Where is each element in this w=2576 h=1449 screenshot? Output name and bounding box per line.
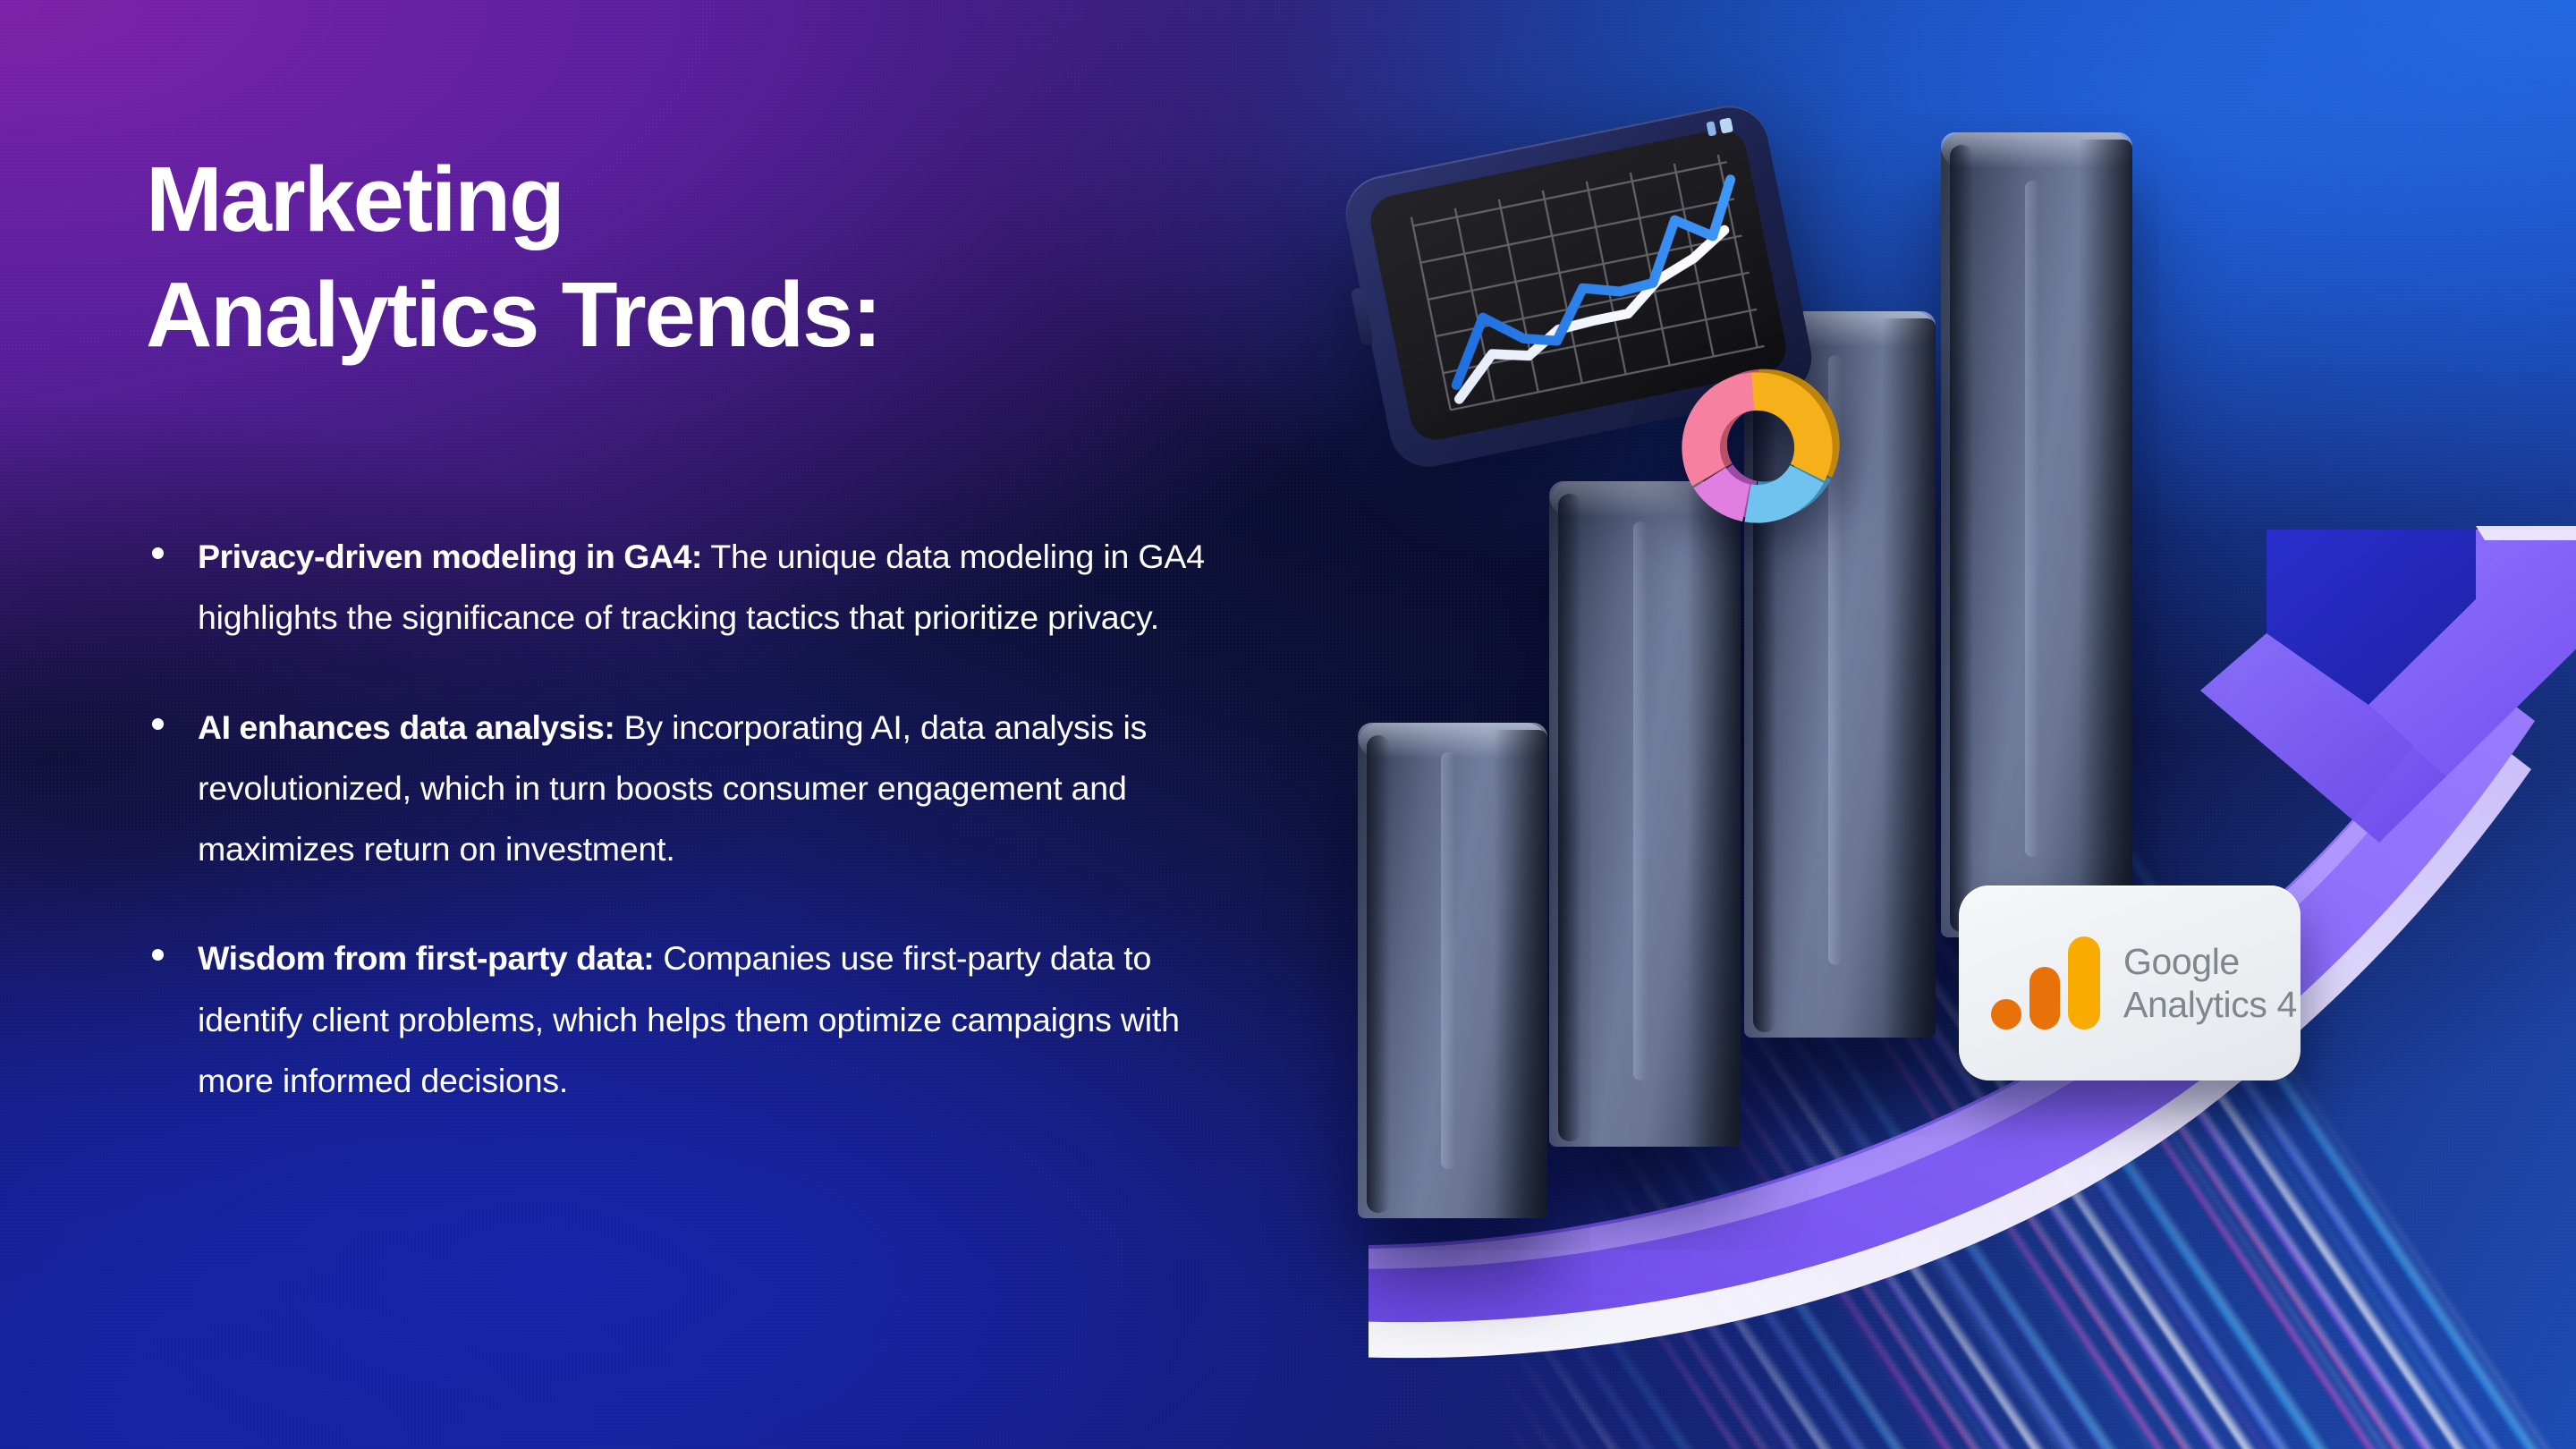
bar-left-shade	[1367, 735, 1390, 1213]
bar-left-shade	[1950, 145, 1973, 932]
bullet-lead: Privacy-driven modeling in GA4:	[198, 538, 702, 575]
bullet-text: AI enhances data analysis: By incorporat…	[198, 697, 1264, 880]
bullet-lead: Wisdom from first-party data:	[198, 939, 654, 977]
bar-specular	[2025, 181, 2039, 857]
google-analytics-logo-icon	[1991, 936, 2100, 1030]
page-title: Marketing Analytics Trends:	[146, 152, 1362, 361]
indicator-dot-1	[1706, 121, 1716, 136]
bar-specular	[1633, 521, 1648, 1080]
page-title-line-1: Marketing	[146, 152, 1362, 246]
ga4-wordmark: Google Analytics 4	[2123, 940, 2297, 1027]
bullet-dot-icon	[152, 547, 164, 559]
bullet-lead: AI enhances data analysis:	[198, 708, 614, 746]
ga-bar-tall	[2068, 936, 2100, 1030]
bar-2	[1549, 481, 1741, 1147]
hero-illustration: Google Analytics 4	[1368, 179, 2576, 1449]
bullet-text: Privacy-driven modeling in GA4: The uniq…	[198, 526, 1264, 648]
bar-right-shade	[1687, 488, 1741, 1147]
list-item: Wisdom from first-party data: Companies …	[146, 928, 1264, 1111]
ga-bar-mid	[2029, 967, 2060, 1030]
poster-canvas: Marketing Analytics Trends: Privacy-driv…	[0, 0, 2576, 1449]
bar-right-shade	[2079, 140, 2132, 937]
bullet-dot-icon	[152, 949, 164, 961]
bullet-list: Privacy-driven modeling in GA4: The uniq…	[146, 526, 1264, 1111]
bar-left-shade	[1558, 494, 1581, 1141]
bar-1	[1358, 723, 1547, 1218]
bar-right-shade	[1494, 730, 1547, 1218]
ga4-brand-line-1: Google	[2123, 940, 2297, 983]
donut-chart	[1674, 365, 1840, 530]
page-title-line-2: Analytics Trends:	[146, 267, 1362, 361]
bar-right-shade	[1882, 318, 1936, 1038]
list-item: Privacy-driven modeling in GA4: The uniq…	[146, 526, 1264, 648]
bullet-dot-icon	[152, 718, 164, 730]
bullet-text: Wisdom from first-party data: Companies …	[198, 928, 1264, 1111]
bar-4	[1941, 132, 2132, 937]
text-column: Marketing Analytics Trends: Privacy-driv…	[0, 0, 1395, 1449]
ga4-brand-line-2: Analytics 4	[2123, 983, 2297, 1026]
list-item: AI enhances data analysis: By incorporat…	[146, 697, 1264, 880]
ga-bar-dot	[1991, 999, 2021, 1030]
bar-specular	[1441, 752, 1455, 1168]
ga4-badge: Google Analytics 4	[1959, 885, 2301, 1080]
